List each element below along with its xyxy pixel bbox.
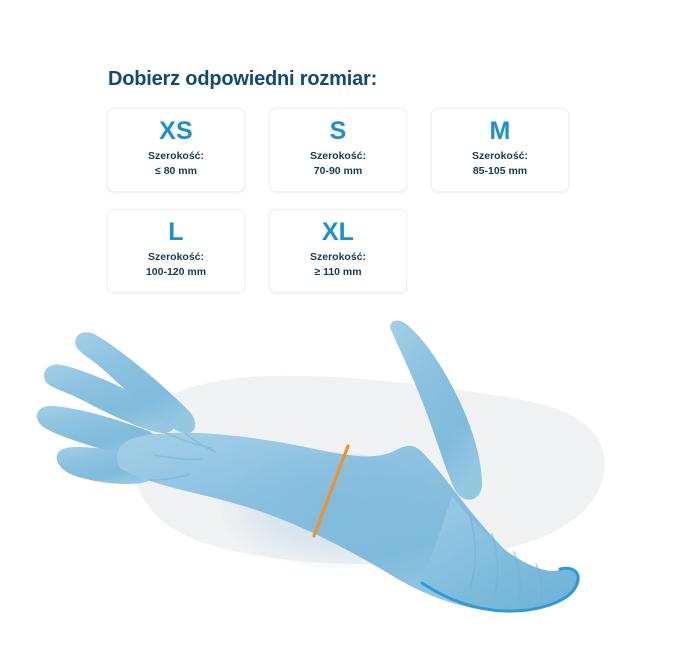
- size-card-m[interactable]: M Szerokość: 85-105 mm: [431, 108, 569, 192]
- page-title: Dobierz odpowiedni rozmiar:: [108, 68, 377, 91]
- width-label: Szerokość:: [310, 149, 366, 164]
- width-value: 70-90 mm: [310, 164, 366, 179]
- width-value: 85-105 mm: [472, 164, 528, 179]
- width-label: Szerokość:: [148, 149, 204, 164]
- glove-illustration: [0, 320, 700, 620]
- size-letter: XS: [159, 117, 193, 145]
- size-letter: M: [489, 117, 510, 145]
- size-meta: Szerokość: ≥ 110 mm: [310, 250, 366, 280]
- size-letter: S: [330, 117, 347, 145]
- width-label: Szerokość:: [472, 149, 528, 164]
- size-card-xl[interactable]: XL Szerokość: ≥ 110 mm: [269, 209, 407, 293]
- size-meta: Szerokość: ≤ 80 mm: [148, 149, 204, 179]
- size-guide-page: Dobierz odpowiedni rozmiar: XS Szerokość…: [0, 0, 700, 668]
- width-value: ≤ 80 mm: [148, 164, 204, 179]
- size-card-l[interactable]: L Szerokość: 100-120 mm: [107, 209, 245, 293]
- width-value: 100-120 mm: [146, 265, 206, 280]
- size-card-grid: XS Szerokość: ≤ 80 mm S Szerokość: 70-90…: [107, 108, 593, 293]
- width-label: Szerokość:: [146, 250, 206, 265]
- size-card-xs[interactable]: XS Szerokość: ≤ 80 mm: [107, 108, 245, 192]
- size-card-s[interactable]: S Szerokość: 70-90 mm: [269, 108, 407, 192]
- size-meta: Szerokość: 85-105 mm: [472, 149, 528, 179]
- size-letter: L: [168, 218, 183, 246]
- size-meta: Szerokość: 70-90 mm: [310, 149, 366, 179]
- width-label: Szerokość:: [310, 250, 366, 265]
- size-letter: XL: [322, 218, 354, 246]
- width-value: ≥ 110 mm: [310, 265, 366, 280]
- size-meta: Szerokość: 100-120 mm: [146, 250, 206, 280]
